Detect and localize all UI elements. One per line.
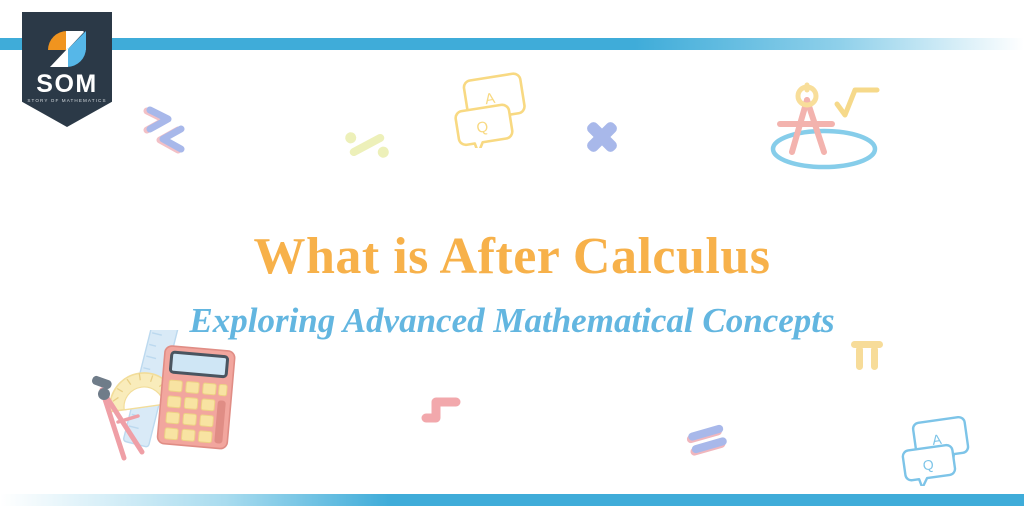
top-divider-rule [0,38,1024,50]
qa-speech-bubbles-blue-icon: A Q [896,410,984,486]
pi-symbol-icon [845,334,889,378]
multiplication-x-icon [578,113,626,161]
square-root-icon [832,82,882,127]
som-logo-wordmark: SOM [22,72,112,97]
svg-text:A: A [484,90,497,108]
division-sign-icon [340,118,394,172]
svg-text:Q: Q [922,456,935,473]
angle-mark-icon [418,390,466,432]
som-logo-mark-icon [46,29,88,69]
bottom-divider-rule [0,494,1024,506]
chevrons-icon [138,103,198,163]
page-title: What is After Calculus [0,228,1024,285]
svg-text:A: A [931,431,943,448]
equals-sign-icon [680,418,732,464]
som-logo-tagline: STORY OF MATHEMATICS [22,98,112,103]
som-logo-badge[interactable]: SOM STORY OF MATHEMATICS [22,12,112,127]
banner-root: A Q [0,0,1024,532]
qa-speech-bubbles-yellow-icon: A Q [447,63,542,148]
page-subtitle: Exploring Advanced Mathematical Concepts [0,302,1024,341]
math-tools-illustration [72,330,252,480]
